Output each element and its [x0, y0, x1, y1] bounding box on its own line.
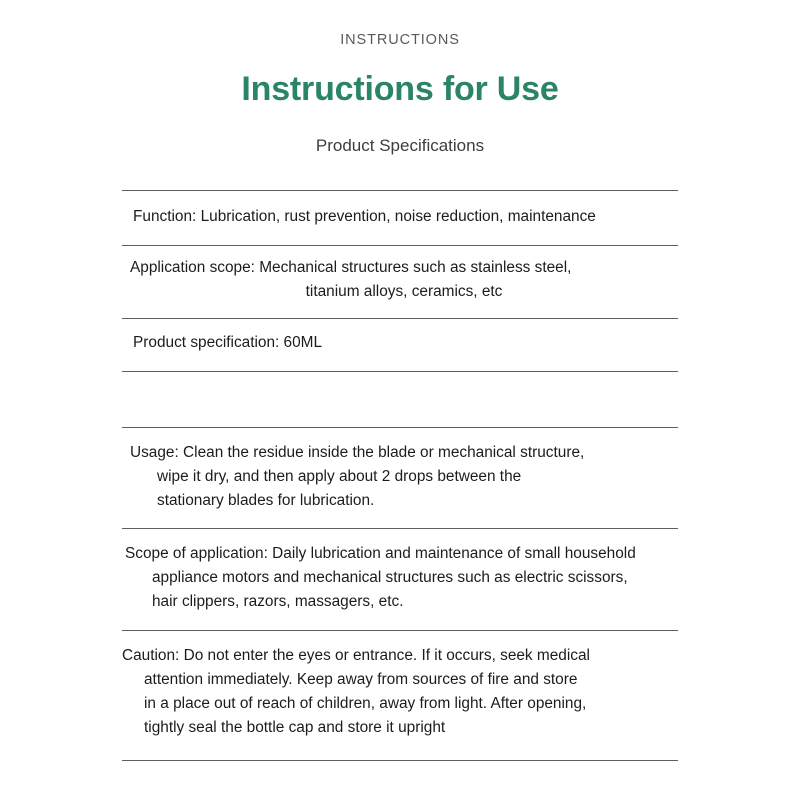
spec-line: Function: Lubrication, rust prevention, …	[133, 205, 678, 229]
specifications-table: Function: Lubrication, rust prevention, …	[122, 190, 678, 761]
spec-line-continued: titanium alloys, ceramics, etc	[130, 280, 678, 304]
spec-line-continued: tightly seal the bottle cap and store it…	[122, 716, 678, 740]
instructions-page: INSTRUCTIONS Instructions for Use Produc…	[0, 0, 800, 800]
table-row: Function: Lubrication, rust prevention, …	[122, 191, 678, 245]
page-title: Instructions for Use	[0, 50, 800, 109]
page-header: INSTRUCTIONS Instructions for Use Produc…	[0, 0, 800, 157]
spec-line-continued: appliance motors and mechanical structur…	[125, 566, 678, 590]
spec-line-continued: hair clippers, razors, massagers, etc.	[125, 590, 678, 614]
spec-line: Scope of application: Daily lubrication …	[125, 542, 678, 566]
table-row: Caution: Do not enter the eyes or entran…	[122, 631, 678, 760]
spec-line-continued: stationary blades for lubrication.	[130, 489, 678, 513]
page-subtitle: Product Specifications	[0, 109, 800, 157]
spec-line: Application scope: Mechanical structures…	[130, 256, 678, 280]
spec-line: Caution: Do not enter the eyes or entran…	[122, 644, 678, 668]
spec-line: Product specification: 60ML	[133, 331, 678, 355]
table-row: Usage: Clean the residue inside the blad…	[122, 428, 678, 528]
table-row: Application scope: Mechanical structures…	[122, 246, 678, 318]
table-row: Scope of application: Daily lubrication …	[122, 529, 678, 630]
spec-line: Usage: Clean the residue inside the blad…	[130, 441, 678, 465]
spec-line-continued: attention immediately. Keep away from so…	[122, 668, 678, 692]
spec-line-continued: in a place out of reach of children, awa…	[122, 692, 678, 716]
table-row-empty	[122, 372, 678, 427]
spec-line-continued: wipe it dry, and then apply about 2 drop…	[130, 465, 678, 489]
table-row: Product specification: 60ML	[122, 319, 678, 371]
table-rule	[122, 760, 678, 761]
eyebrow-label: INSTRUCTIONS	[0, 0, 800, 50]
